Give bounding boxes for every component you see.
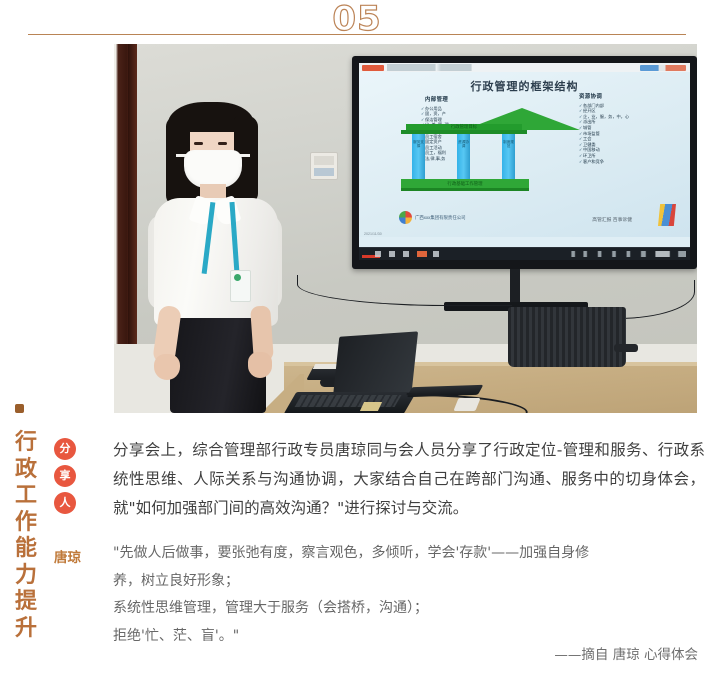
vertical-title-char: 工 (12, 483, 40, 510)
taskbar-active-app-icon (417, 251, 427, 257)
quote-line: 系统性思维管理，管理大于服务（会搭桥，沟通）； (113, 595, 708, 623)
sharer-badge: 分 (54, 438, 76, 460)
quote-line: "先做人后做事，要张弛有度，察言观色，多倾听，学会'存款'——加强自身修 (113, 540, 708, 568)
company-logo-icon (399, 211, 412, 224)
slide-left-item: 法,律,事,务 (421, 156, 449, 162)
slide-timestamp: 2021/11/30 (364, 232, 382, 236)
diagram-pillar-label: 服务支撑 (412, 140, 425, 148)
diagram-pillar-label: 制度规范 (502, 140, 515, 148)
taskbar-app-icon (433, 251, 439, 257)
os-taskbar (359, 247, 690, 260)
vertical-title-char: 提 (12, 589, 40, 616)
taskbar-app-icon (389, 251, 395, 257)
taskbar-system-tray (566, 251, 686, 257)
browser-tab-pill (362, 65, 384, 71)
quote-line: 养，树立良好形象； (113, 568, 708, 596)
presenter-hand-right (248, 352, 272, 378)
vertical-title-char: 政 (12, 457, 40, 484)
vertical-title-char: 行 (12, 430, 40, 457)
company-logo-text: 广西xxx集团有限责任公司 (415, 215, 466, 221)
diagram-roof-label: 行政管理目标 (406, 124, 522, 130)
vertical-section-title: 行 政 工 作 能 力 提 升 (12, 430, 40, 642)
office-chair (508, 307, 626, 367)
office-chair-arm (614, 344, 638, 352)
laptop-keyboard (295, 395, 402, 407)
display-screen: 行政管理的框架结构 内部管理 办公用品 固，资，产 保洁管理 出, 差, 管, … (359, 63, 690, 247)
quote-block: "先做人后做事，要张弛有度，察言观色，多倾听，学会'存款'——加强自身修 养，树… (113, 540, 708, 650)
section-number: 05 (0, 2, 714, 36)
vertical-title-char: 作 (12, 510, 40, 537)
presenter-eye-right (218, 142, 227, 145)
slide-title: 行政管理的框架结构 (359, 78, 690, 94)
diagram-pillar-label: 资源协调 (457, 140, 470, 148)
diagram-base-shadow (401, 188, 529, 191)
quote-speaker-name: 唐琼 (54, 546, 81, 566)
employee-id-badge (230, 270, 251, 302)
slide-left-item: 固，资，产 (421, 111, 449, 117)
meeting-photo: 行政管理的框架结构 内部管理 办公用品 固，资，产 保洁管理 出, 差, 管, … (114, 44, 697, 413)
door-frame (114, 44, 137, 344)
taskbar-app-icon (375, 251, 381, 257)
sharer-badge-group: 分 享 人 (54, 438, 78, 519)
presenter-hand-left (154, 354, 180, 380)
vertical-title-char: 能 (12, 536, 40, 563)
presenter-eye-left (194, 142, 203, 145)
vertical-title-char: 升 (12, 616, 40, 643)
presenter-figure (142, 102, 322, 413)
square-bullet-icon (15, 404, 24, 413)
diagram-base-label: 行政基础工作管理 (401, 181, 529, 187)
page-header: 05 (0, 0, 714, 40)
summary-paragraph: 分享会上，综合管理部行政专员唐琼同与会人员分享了行政定位-管理和服务、行政系统性… (113, 436, 705, 523)
browser-url-text (387, 64, 507, 71)
sharer-badge: 人 (54, 492, 76, 514)
slide-left-header: 内部管理 (421, 98, 449, 104)
slide-right-item: 客户和竞争 (579, 159, 629, 165)
wall-display: 行政管理的框架结构 内部管理 办公用品 固，资，产 保洁管理 出, 差, 管, … (352, 56, 697, 269)
slide-right-header: 资源协调 (579, 95, 629, 101)
browser-toolbar-icons (640, 65, 686, 71)
presentation-slide: 行政管理的框架结构 内部管理 办公用品 固，资，产 保洁管理 出, 差, 管, … (359, 72, 690, 237)
slide-ribbon-icon (658, 204, 676, 226)
slide-right-column: 资源协调 各部门内部 经开区 企，业，服，务，中，心 派出所 城管 市场监管 工… (579, 95, 629, 164)
door-frame-inner (128, 44, 137, 344)
slide-footer-note: 高管汇报 百事诉健 (592, 216, 632, 223)
sharer-badge: 享 (54, 465, 76, 487)
taskbar-app-icon (403, 251, 409, 257)
face-mask-icon (184, 150, 242, 188)
quote-attribution: ——摘自 唐琼 心得体会 (113, 643, 698, 663)
vertical-title-char: 力 (12, 563, 40, 590)
